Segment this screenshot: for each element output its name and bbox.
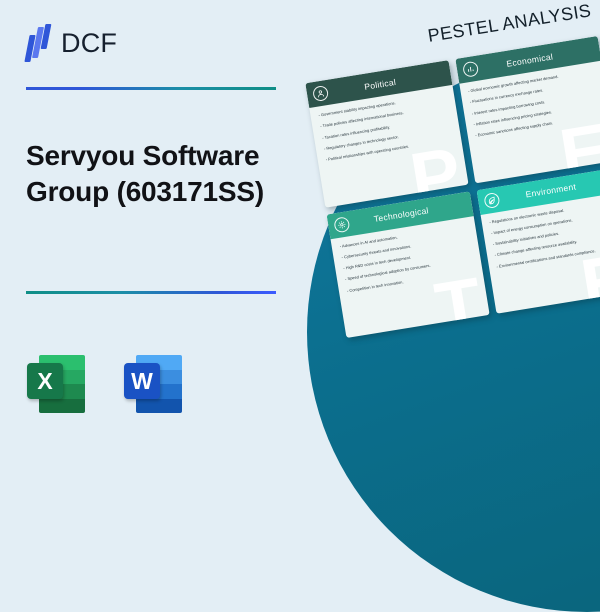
pestel-card-political[interactable]: Political P - Government stability impac… xyxy=(305,60,468,207)
pestel-card-technological[interactable]: Technological T - Advances in AI and aut… xyxy=(326,191,489,338)
page-title-line-1: Servyou Software xyxy=(26,138,316,174)
download-icons: X W xyxy=(27,355,182,413)
page-title-line-2: Group (603171SS) xyxy=(26,174,316,210)
bottom-divider xyxy=(26,291,276,294)
pestel-card-grid: Political P - Government stability impac… xyxy=(305,36,600,338)
top-divider xyxy=(26,87,276,90)
watermark-letter-environment: E xyxy=(577,250,600,314)
brand-logo: DCF xyxy=(26,24,117,62)
left-column: DCF Servyou Software Group (603171SS) X … xyxy=(0,0,330,446)
word-file-letter: W xyxy=(124,363,160,399)
brand-name: DCF xyxy=(61,28,117,59)
watermark-letter-technological: T xyxy=(432,274,486,338)
card-body-technological: T - Advances in AI and automation. - Cyb… xyxy=(330,216,489,338)
pestel-analysis-panel: PESTEL ANALYSIS Political P - Government… xyxy=(318,0,600,446)
bullet-item: - Political relationships with operating… xyxy=(326,138,453,162)
word-file-icon[interactable]: W xyxy=(124,355,182,413)
excel-file-icon[interactable]: X xyxy=(27,355,85,413)
excel-file-letter: X xyxy=(27,363,63,399)
bullet-item: - Competition in tech innovation. xyxy=(347,268,474,292)
card-body-political: P - Government stability impacting opera… xyxy=(309,85,468,207)
page-title: Servyou Software Group (603171SS) xyxy=(26,138,316,210)
pestel-card-environment[interactable]: Environment E - Regulations on electroni… xyxy=(476,167,600,314)
bar-chart-logo-icon xyxy=(26,24,52,62)
bullet-item: - Economic sanctions affecting supply ch… xyxy=(475,113,600,137)
pestel-card-economical[interactable]: Economical E - Global economic growth af… xyxy=(455,36,600,183)
